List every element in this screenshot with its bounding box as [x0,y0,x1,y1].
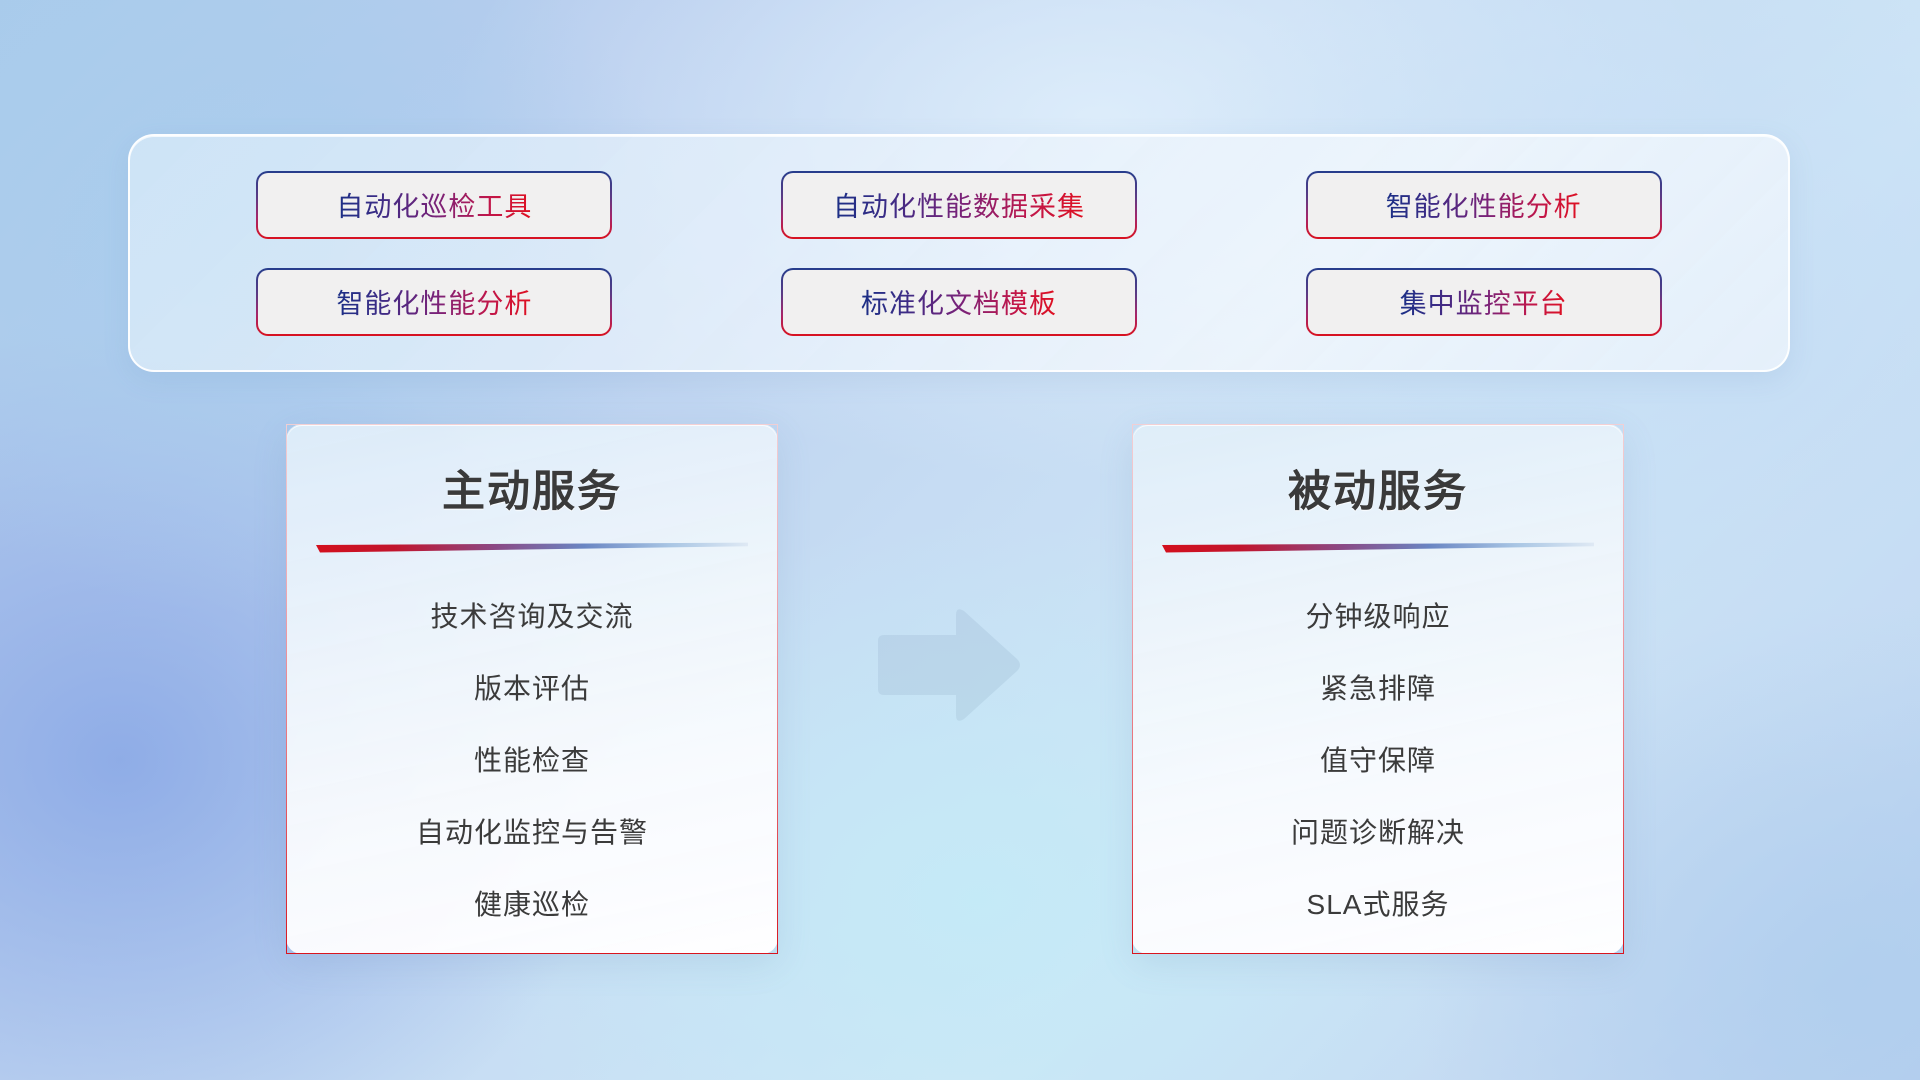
capability-pill-label: 智能化性能分析 [1386,185,1582,224]
capability-pill[interactable]: 自动化巡检工具 [256,171,612,239]
list-item: SLA式服务 [1133,869,1623,941]
capability-pill-label: 自动化性能数据采集 [833,185,1085,224]
list-item: 问题诊断解决 [1133,797,1623,869]
capability-pill-label: 标准化文档模板 [861,282,1057,321]
list-item: 紧急排障 [1133,653,1623,725]
capability-pill-label: 智能化性能分析 [336,282,532,321]
list-item: 性能检查 [287,725,777,797]
list-item: 版本评估 [287,653,777,725]
capability-pill-inner: 自动化性能数据采集 [783,173,1135,237]
list-item: 值守保障 [1133,725,1623,797]
capability-pill-inner: 智能化性能分析 [258,270,610,334]
service-item-list: 技术咨询及交流 版本评估 性能检查 自动化监控与告警 健康巡检 [287,581,777,941]
card-divider [1162,541,1594,555]
slide-stage: 自动化巡检工具 自动化性能数据采集 智能化性能分析 智能化性能分析 标准化文档模… [0,0,1920,1080]
service-card-reactive: 被动服务 分钟级响应 紧急排障 值守保障 [1132,424,1624,954]
capability-pill[interactable]: 智能化性能分析 [256,268,612,336]
capabilities-panel: 自动化巡检工具 自动化性能数据采集 智能化性能分析 智能化性能分析 标准化文档模… [128,134,1790,372]
arrow-right-icon [872,605,1024,725]
capability-pill[interactable]: 集中监控平台 [1306,268,1662,336]
capability-pill-inner: 集中监控平台 [1308,270,1660,334]
list-item: 自动化监控与告警 [287,797,777,869]
capability-pill-inner: 智能化性能分析 [1308,173,1660,237]
card-title: 主动服务 [442,457,622,519]
capability-pill-label: 自动化巡检工具 [336,185,532,224]
capability-pill-label: 集中监控平台 [1400,282,1568,321]
card-divider [316,541,748,555]
card-title: 被动服务 [1288,457,1468,519]
capability-pill[interactable]: 标准化文档模板 [781,268,1137,336]
list-item: 分钟级响应 [1133,581,1623,653]
list-item: 技术咨询及交流 [287,581,777,653]
capability-pill[interactable]: 自动化性能数据采集 [781,171,1137,239]
service-card-proactive: 主动服务 技术咨询及交流 版本评估 性能检查 [286,424,778,954]
list-item: 健康巡检 [287,869,777,941]
service-item-list: 分钟级响应 紧急排障 值守保障 问题诊断解决 SLA式服务 [1133,581,1623,941]
capability-pill-inner: 标准化文档模板 [783,270,1135,334]
capability-pill[interactable]: 智能化性能分析 [1306,171,1662,239]
capability-pill-inner: 自动化巡检工具 [258,173,610,237]
